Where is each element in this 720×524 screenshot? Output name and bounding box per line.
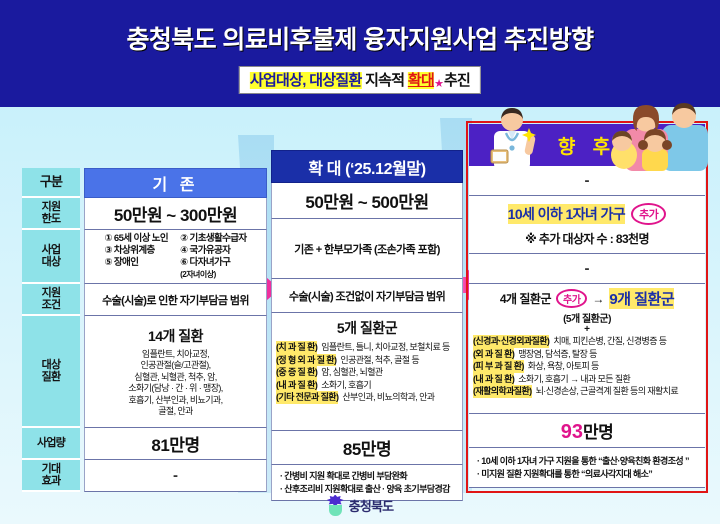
future-disease-group-key: (신경과·신경외과질환): [473, 335, 549, 348]
row-label-category: 구분: [22, 168, 80, 198]
row-label-volume: 사업량: [22, 428, 80, 460]
existing-disease: 14개 질환 임플란트, 치아교정, 인공관절(슬/고관절), 심혈관, 뇌혈관…: [84, 316, 267, 428]
expand-support-limit-value: 50만원 ~ 500만원: [305, 188, 428, 213]
subtitle-part-4: 추진: [444, 72, 470, 89]
future-disease-sub: (5개 질환군): [563, 310, 611, 325]
existing-target-3: ③ 차상위계층: [104, 245, 168, 257]
future-disease-group: (신경과·신경외과질환) 치매, 피킨슨병, 간질, 신경병증 등: [473, 335, 666, 348]
doctor-illustration: [482, 108, 542, 170]
subtitle-part-2: 지속적: [365, 72, 404, 89]
future-effect-list: · 10세 이하 1자녀 가구 지원을 통한 “출산·양육친화 환경조성 ” ·…: [469, 455, 705, 481]
future-target-main: 10세 이하 1자녀 가구: [508, 204, 625, 224]
expand-disease-title: 5개 질환군: [337, 318, 397, 338]
chungbuk-logo-icon: [327, 495, 344, 516]
existing-volume: 81만명: [84, 428, 267, 460]
future-condition: -: [469, 254, 705, 284]
future-disease-to: 9개 질환군: [609, 288, 674, 309]
expand-condition: 수술(시술) 조건없이 자기부담금 범위: [271, 279, 463, 313]
expand-disease-group: (중 증 질 환) 암, 심혈관, 뇌혈관: [276, 366, 383, 379]
future-disease: 4개 질환군 추가 → 9개 질환군 (5개 질환군) + (신경과·신경외과질…: [469, 284, 705, 414]
expand-effect-1: · 간병비 지원 확대로 간병비 부담완화: [280, 470, 462, 483]
row-label-column: 구분 지원한도 사업대상 지원조건 대상질환 사업량 기대효과: [22, 168, 80, 492]
future-disease-group-key: (피 부 과 질 환): [473, 360, 524, 373]
expand-disease-group-val: 암, 심혈관, 뇌혈관: [321, 366, 382, 379]
expand-support-limit: 50만원 ~ 500만원: [271, 183, 463, 219]
row-label-disease: 대상질환: [22, 316, 80, 428]
expand-disease: 5개 질환군 (치 과 질 환) 임플란트, 틀니, 치아교정, 보철치료 등 …: [271, 313, 463, 431]
future-disease-group: (재활의학과질환) 뇌·신경손상, 근골격계 질환 등의 재활치료: [473, 385, 678, 398]
existing-disease-body: 임플란트, 치아교정, 인공관절(슬/고관절), 심혈관, 뇌혈관, 척추, 암…: [128, 349, 222, 418]
existing-target-2: ② 기초생활수급자: [180, 233, 246, 245]
future-disease-groups: (신경과·신경외과질환) 치매, 피킨슨병, 간질, 신경병증 등 (외 과 질…: [469, 335, 705, 398]
expand-disease-group-val: 소화기, 호흡기: [321, 379, 371, 392]
expand-disease-group-key: (내 과 질 환): [276, 379, 317, 392]
row-label-condition-l1: 지원: [42, 287, 61, 299]
row-label-category-text: 구분: [40, 176, 62, 188]
column-expand: 확 대 (‘25.12월말) 50만원 ~ 500만원 기존 + 한부모가족 (…: [271, 150, 463, 501]
future-effect-1: · 10세 이하 1자녀 가구 지원을 통한 “출산·양육친화 환경조성 ”: [477, 455, 705, 468]
expand-disease-group-key: (치 과 질 환): [276, 341, 317, 354]
expand-disease-group-val: 인공관절, 척추, 골절 등: [340, 354, 419, 367]
expand-disease-group: (치 과 질 환) 임플란트, 틀니, 치아교정, 보철치료 등: [276, 341, 450, 354]
future-targets: 10세 이하 1자녀 가구 추가 ※ 추가 대상자 수 : 83천명: [469, 196, 705, 254]
row-label-condition: 지원조건: [22, 284, 80, 316]
existing-disease-title: 14개 질환: [148, 326, 203, 346]
existing-condition: 수술(시술)로 인한 자기부담금 범위: [84, 284, 267, 316]
future-disease-group-val: 화상, 욕창, 아토피 등: [528, 360, 599, 373]
row-label-support-limit-l2: 한도: [42, 213, 61, 225]
footer-logo-text: 충청북도: [349, 496, 394, 515]
future-disease-group-val: 뇌·신경손상, 근골격계 질환 등의 재활치료: [536, 385, 678, 398]
future-disease-plus: +: [584, 325, 590, 334]
row-label-disease-l1: 대상: [42, 359, 61, 371]
subtitle-part-1: 사업대상, 대상질환: [250, 72, 362, 89]
row-label-target-l1: 사업: [42, 244, 61, 256]
existing-target-6: ⑥ 다자녀가구: [180, 257, 246, 269]
expand-targets: 기존 + 한부모가족 (조손가족 포함): [271, 219, 463, 279]
future-disease-group-key: (재활의학과질환): [473, 385, 532, 398]
expand-volume: 85만명: [271, 431, 463, 465]
column-future: 향 후 - 10세 이하 1자녀 가구 추가 ※ 추가 대상자 수 : 83천명…: [469, 124, 705, 488]
existing-targets: ① 65세 이상 노인 ② 기초생활수급자 ③ 차상위계층 ④ 국가유공자 ⑤ …: [84, 230, 267, 284]
row-label-condition-l2: 조건: [42, 299, 61, 311]
future-volume-number: 93: [561, 421, 583, 443]
existing-target-4: ④ 국가유공자: [180, 245, 246, 257]
row-label-volume-text: 사업량: [37, 437, 65, 449]
expand-disease-groups: (치 과 질 환) 임플란트, 틀니, 치아교정, 보철치료 등 (정 형 외 …: [272, 341, 462, 404]
future-effect: · 10세 이하 1자녀 가구 지원을 통한 “출산·양육친화 환경조성 ” ·…: [469, 448, 705, 488]
expand-condition-value: 수술(시술) 조건없이 자기부담금 범위: [289, 288, 445, 304]
future-effect-2: · 미지원 질환 지원확대를 통한 “의료사각지대 해소”: [477, 468, 705, 481]
future-disease-badge: 추가: [556, 289, 587, 308]
future-disease-group-key: (외 과 질 환): [473, 348, 514, 361]
row-label-target-l2: 대상: [42, 256, 61, 268]
future-disease-group: (내 과 질 환) 소화기, 호흡기 → 내과 모든 질환: [473, 373, 630, 386]
row-label-target: 사업대상: [22, 230, 80, 284]
expand-disease-group-key: (기타 전문과 질환): [276, 391, 338, 404]
expand-disease-group: (정 형 외 과 질 환) 인공관절, 척추, 골절 등: [276, 354, 419, 367]
column-existing: 기 존 50만원 ~ 300만원 ① 65세 이상 노인 ② 기초생활수급자 ③…: [84, 168, 267, 492]
existing-volume-value: 81만명: [151, 431, 199, 456]
future-target-badge: 추가: [631, 203, 666, 225]
page-subtitle: 사업대상, 대상질환 지속적 확대★추진: [239, 66, 481, 94]
page-title: 충청북도 의료비후불제 융자지원사업 추진방향: [0, 20, 720, 56]
future-disease-arrow-icon: →: [592, 292, 604, 306]
footer: 충청북도: [0, 486, 720, 524]
row-label-disease-l2: 질환: [42, 371, 61, 383]
future-disease-from: 4개 질환군: [500, 290, 551, 307]
subtitle-part-3: 확대: [408, 72, 434, 89]
page-header: 충청북도 의료비후불제 융자지원사업 추진방향 사업대상, 대상질환 지속적 확…: [0, 0, 720, 107]
future-disease-group-val: 맹장염, 담석증, 탈장 등: [518, 348, 597, 361]
row-label-support-limit: 지원한도: [22, 198, 80, 230]
future-disease-group: (피 부 과 질 환) 화상, 욕창, 아토피 등: [473, 360, 599, 373]
existing-targets-list: ① 65세 이상 노인 ② 기초생활수급자 ③ 차상위계층 ④ 국가유공자 ⑤ …: [104, 233, 246, 281]
future-volume: 93만명: [469, 414, 705, 448]
future-disease-group-val: 소화기, 호흡기 → 내과 모든 질환: [518, 373, 630, 386]
future-support-limit-value: -: [585, 172, 590, 189]
existing-effect-value: -: [173, 467, 178, 484]
family-illustration: [602, 103, 710, 171]
expand-targets-value: 기존 + 한부모가족 (조손가족 포함): [294, 241, 440, 257]
future-disease-group-key: (내 과 질 환): [473, 373, 514, 386]
future-volume-unit: 만명: [583, 423, 613, 442]
column-existing-header: 기 존: [84, 168, 267, 198]
future-disease-group-val: 치매, 피킨슨병, 간질, 신경병증 등: [553, 335, 666, 348]
existing-target-1: ① 65세 이상 노인: [104, 233, 168, 245]
existing-support-limit: 50만원 ~ 300만원: [84, 198, 267, 230]
expand-disease-group-val: 임플란트, 틀니, 치아교정, 보철치료 등: [321, 341, 450, 354]
future-target-note: ※ 추가 대상자 수 : 83천명: [525, 230, 649, 247]
row-label-effect-l1: 기대: [42, 463, 61, 475]
expand-disease-group-key: (정 형 외 과 질 환): [276, 354, 336, 367]
existing-condition-value: 수술(시술)로 인한 자기부담금 범위: [102, 292, 249, 308]
expand-disease-group-key: (중 증 질 환): [276, 366, 317, 379]
expand-disease-group: (내 과 질 환) 소화기, 호흡기: [276, 379, 371, 392]
star-icon: ★: [434, 78, 444, 90]
existing-target-5: ⑤ 장애인: [104, 257, 168, 269]
existing-targets-note: (2자녀이상): [180, 269, 246, 281]
expand-disease-group: (기타 전문과 질환) 산부인과, 비뇨의학과, 안과: [276, 391, 434, 404]
expand-volume-value: 85만명: [343, 435, 391, 460]
expand-disease-group-val: 산부인과, 비뇨의학과, 안과: [342, 391, 434, 404]
future-disease-group: (외 과 질 환) 맹장염, 담석증, 탈장 등: [473, 348, 597, 361]
existing-support-limit-value: 50만원 ~ 300만원: [114, 201, 237, 226]
row-label-support-limit-l1: 지원: [42, 201, 61, 213]
column-expand-header: 확 대 (‘25.12월말): [271, 150, 463, 183]
future-condition-value: -: [585, 260, 590, 277]
